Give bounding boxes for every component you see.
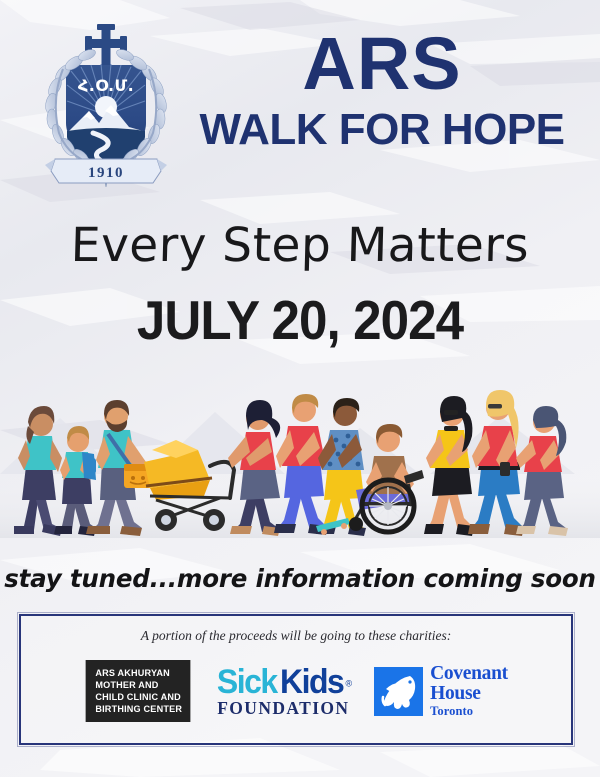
registered-trademark-icon: ® bbox=[345, 678, 352, 688]
akhuryan-line-2: MOTHER AND bbox=[95, 679, 182, 691]
sickkids-word-sick: Sick bbox=[217, 665, 277, 699]
stay-tuned-message: stay tuned...more information coming soo… bbox=[0, 564, 600, 593]
title-block: ARS WALK FOR HOPE bbox=[186, 28, 578, 153]
akhuryan-line-4: BIRTHING CENTER bbox=[95, 703, 182, 715]
poster-canvas: Հ.Օ.Մ. bbox=[0, 0, 600, 777]
event-date: JULY 20, 2024 bbox=[21, 288, 579, 352]
sickkids-foundation-logo[interactable]: SickKids® FOUNDATION bbox=[215, 665, 352, 718]
poster-title-walk-for-hope: WALK FOR HOPE bbox=[186, 107, 578, 153]
ars-akhuryan-logo[interactable]: ARS AKHURYAN MOTHER AND CHILD CLINIC AND… bbox=[86, 660, 191, 722]
covenant-house-toronto-logo[interactable]: Covenant House Toronto bbox=[374, 664, 508, 718]
covenant-house-line-1: Covenant bbox=[430, 664, 508, 684]
poster-title-ars: ARS bbox=[186, 28, 578, 101]
covenant-house-line-2: House bbox=[430, 684, 508, 704]
akhuryan-line-1: ARS AKHURYAN bbox=[95, 667, 182, 679]
svg-text:Հ.Օ.Մ.: Հ.Օ.Մ. bbox=[78, 76, 134, 95]
charities-panel: A portion of the proceeds will be going … bbox=[19, 614, 573, 745]
tagline-every-step-matters: Every Step Matters bbox=[0, 218, 600, 273]
crest-year: 1910 bbox=[88, 165, 124, 181]
covenant-house-city: Toronto bbox=[430, 705, 508, 718]
walking-people-illustration bbox=[0, 378, 600, 538]
sickkids-subtitle: FOUNDATION bbox=[215, 700, 352, 718]
poster-header: Հ.Օ.Մ. bbox=[0, 0, 600, 196]
akhuryan-line-3: CHILD CLINIC AND bbox=[95, 691, 182, 703]
charities-note: A portion of the proceeds will be going … bbox=[21, 628, 571, 644]
covenant-house-dove-icon bbox=[374, 667, 423, 716]
charity-logo-row: ARS AKHURYAN MOTHER AND CHILD CLINIC AND… bbox=[21, 660, 571, 722]
ars-hom-crest-icon: Հ.Օ.Մ. bbox=[33, 19, 179, 189]
sickkids-word-kids: Kids bbox=[280, 665, 343, 699]
